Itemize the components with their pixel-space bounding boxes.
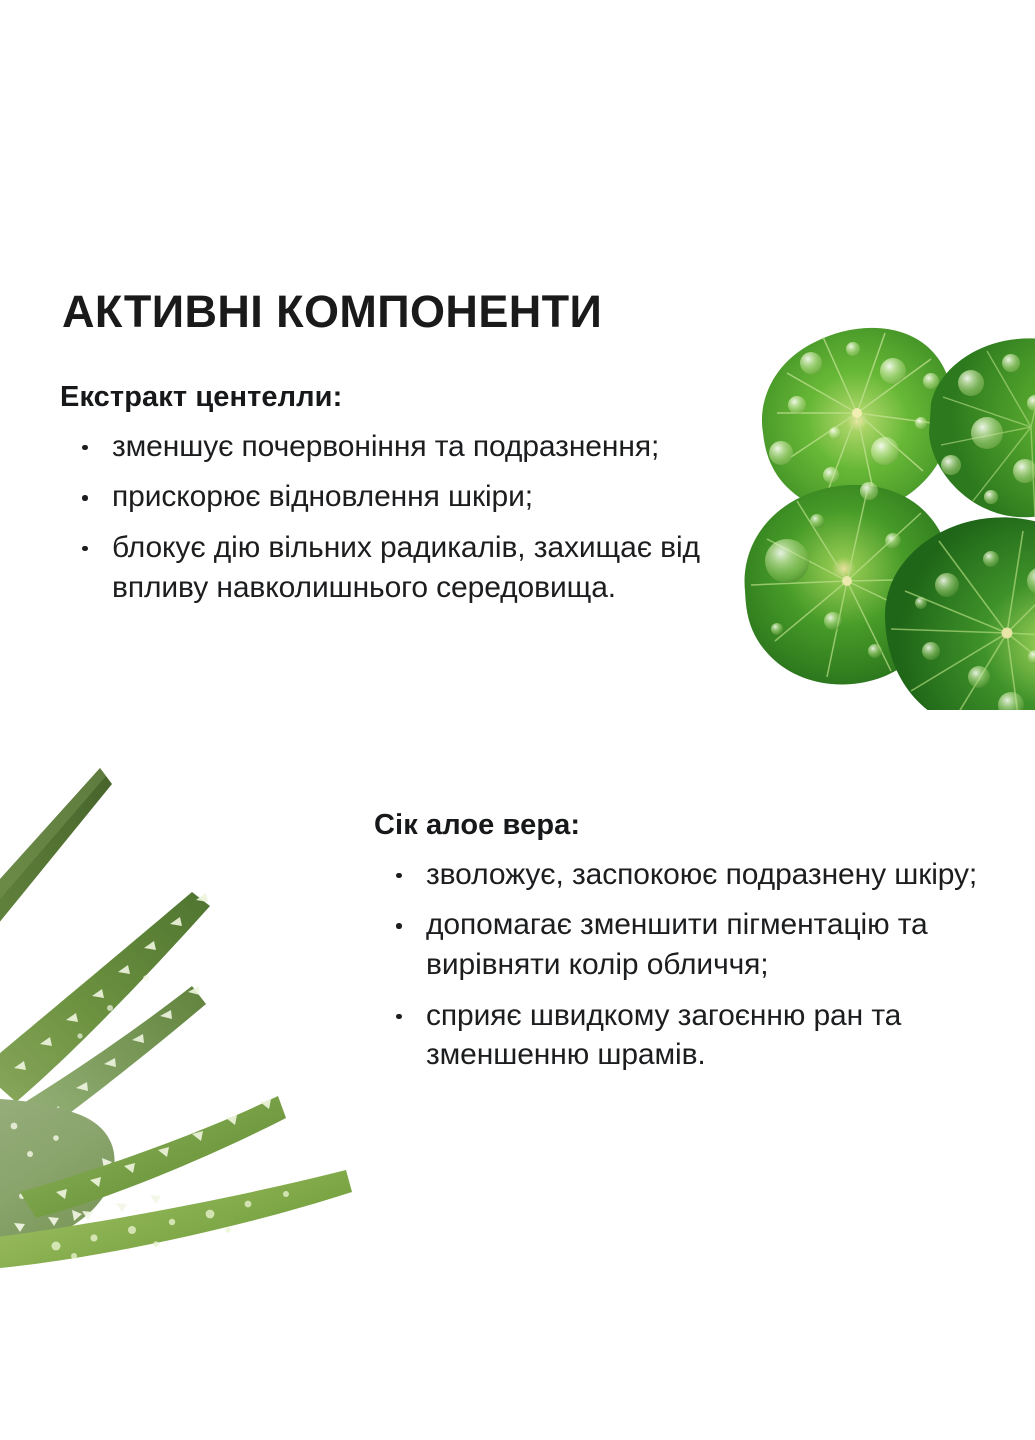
list-item: прискорює відновлення шкіри; (60, 477, 720, 517)
section-heading-aloe: Сік алое вера: (374, 808, 994, 843)
bullet-list-aloe: зволожує, заспокоює подразнену шкіру; до… (374, 855, 994, 1075)
bullet-list-centella: зменшує почервоніння та подразнення; при… (60, 427, 720, 607)
list-item: зволожує, заспокоює подразнену шкіру; (374, 855, 994, 895)
list-item: зменшує почервоніння та подразнення; (60, 427, 720, 467)
list-item: сприяє швидкому загоєнню ран та зменшенн… (374, 996, 994, 1075)
list-item: блокує дію вільних радикалів, захищає ві… (60, 528, 720, 607)
section-centella: Екстракт центелли: зменшує почервоніння … (60, 380, 720, 607)
slide-root: АКТИВНІ КОМПОНЕНТИ Екстракт центелли: зм… (0, 0, 1035, 1440)
text-content: АКТИВНІ КОМПОНЕНТИ Екстракт центелли: зм… (0, 0, 1035, 1440)
section-aloe: Сік алое вера: зволожує, заспокоює подра… (374, 808, 994, 1075)
list-item: допомагає зменшити пігментацію та вирівн… (374, 905, 994, 984)
page-title: АКТИВНІ КОМПОНЕНТИ (62, 288, 602, 335)
section-heading-centella: Екстракт центелли: (60, 380, 720, 415)
